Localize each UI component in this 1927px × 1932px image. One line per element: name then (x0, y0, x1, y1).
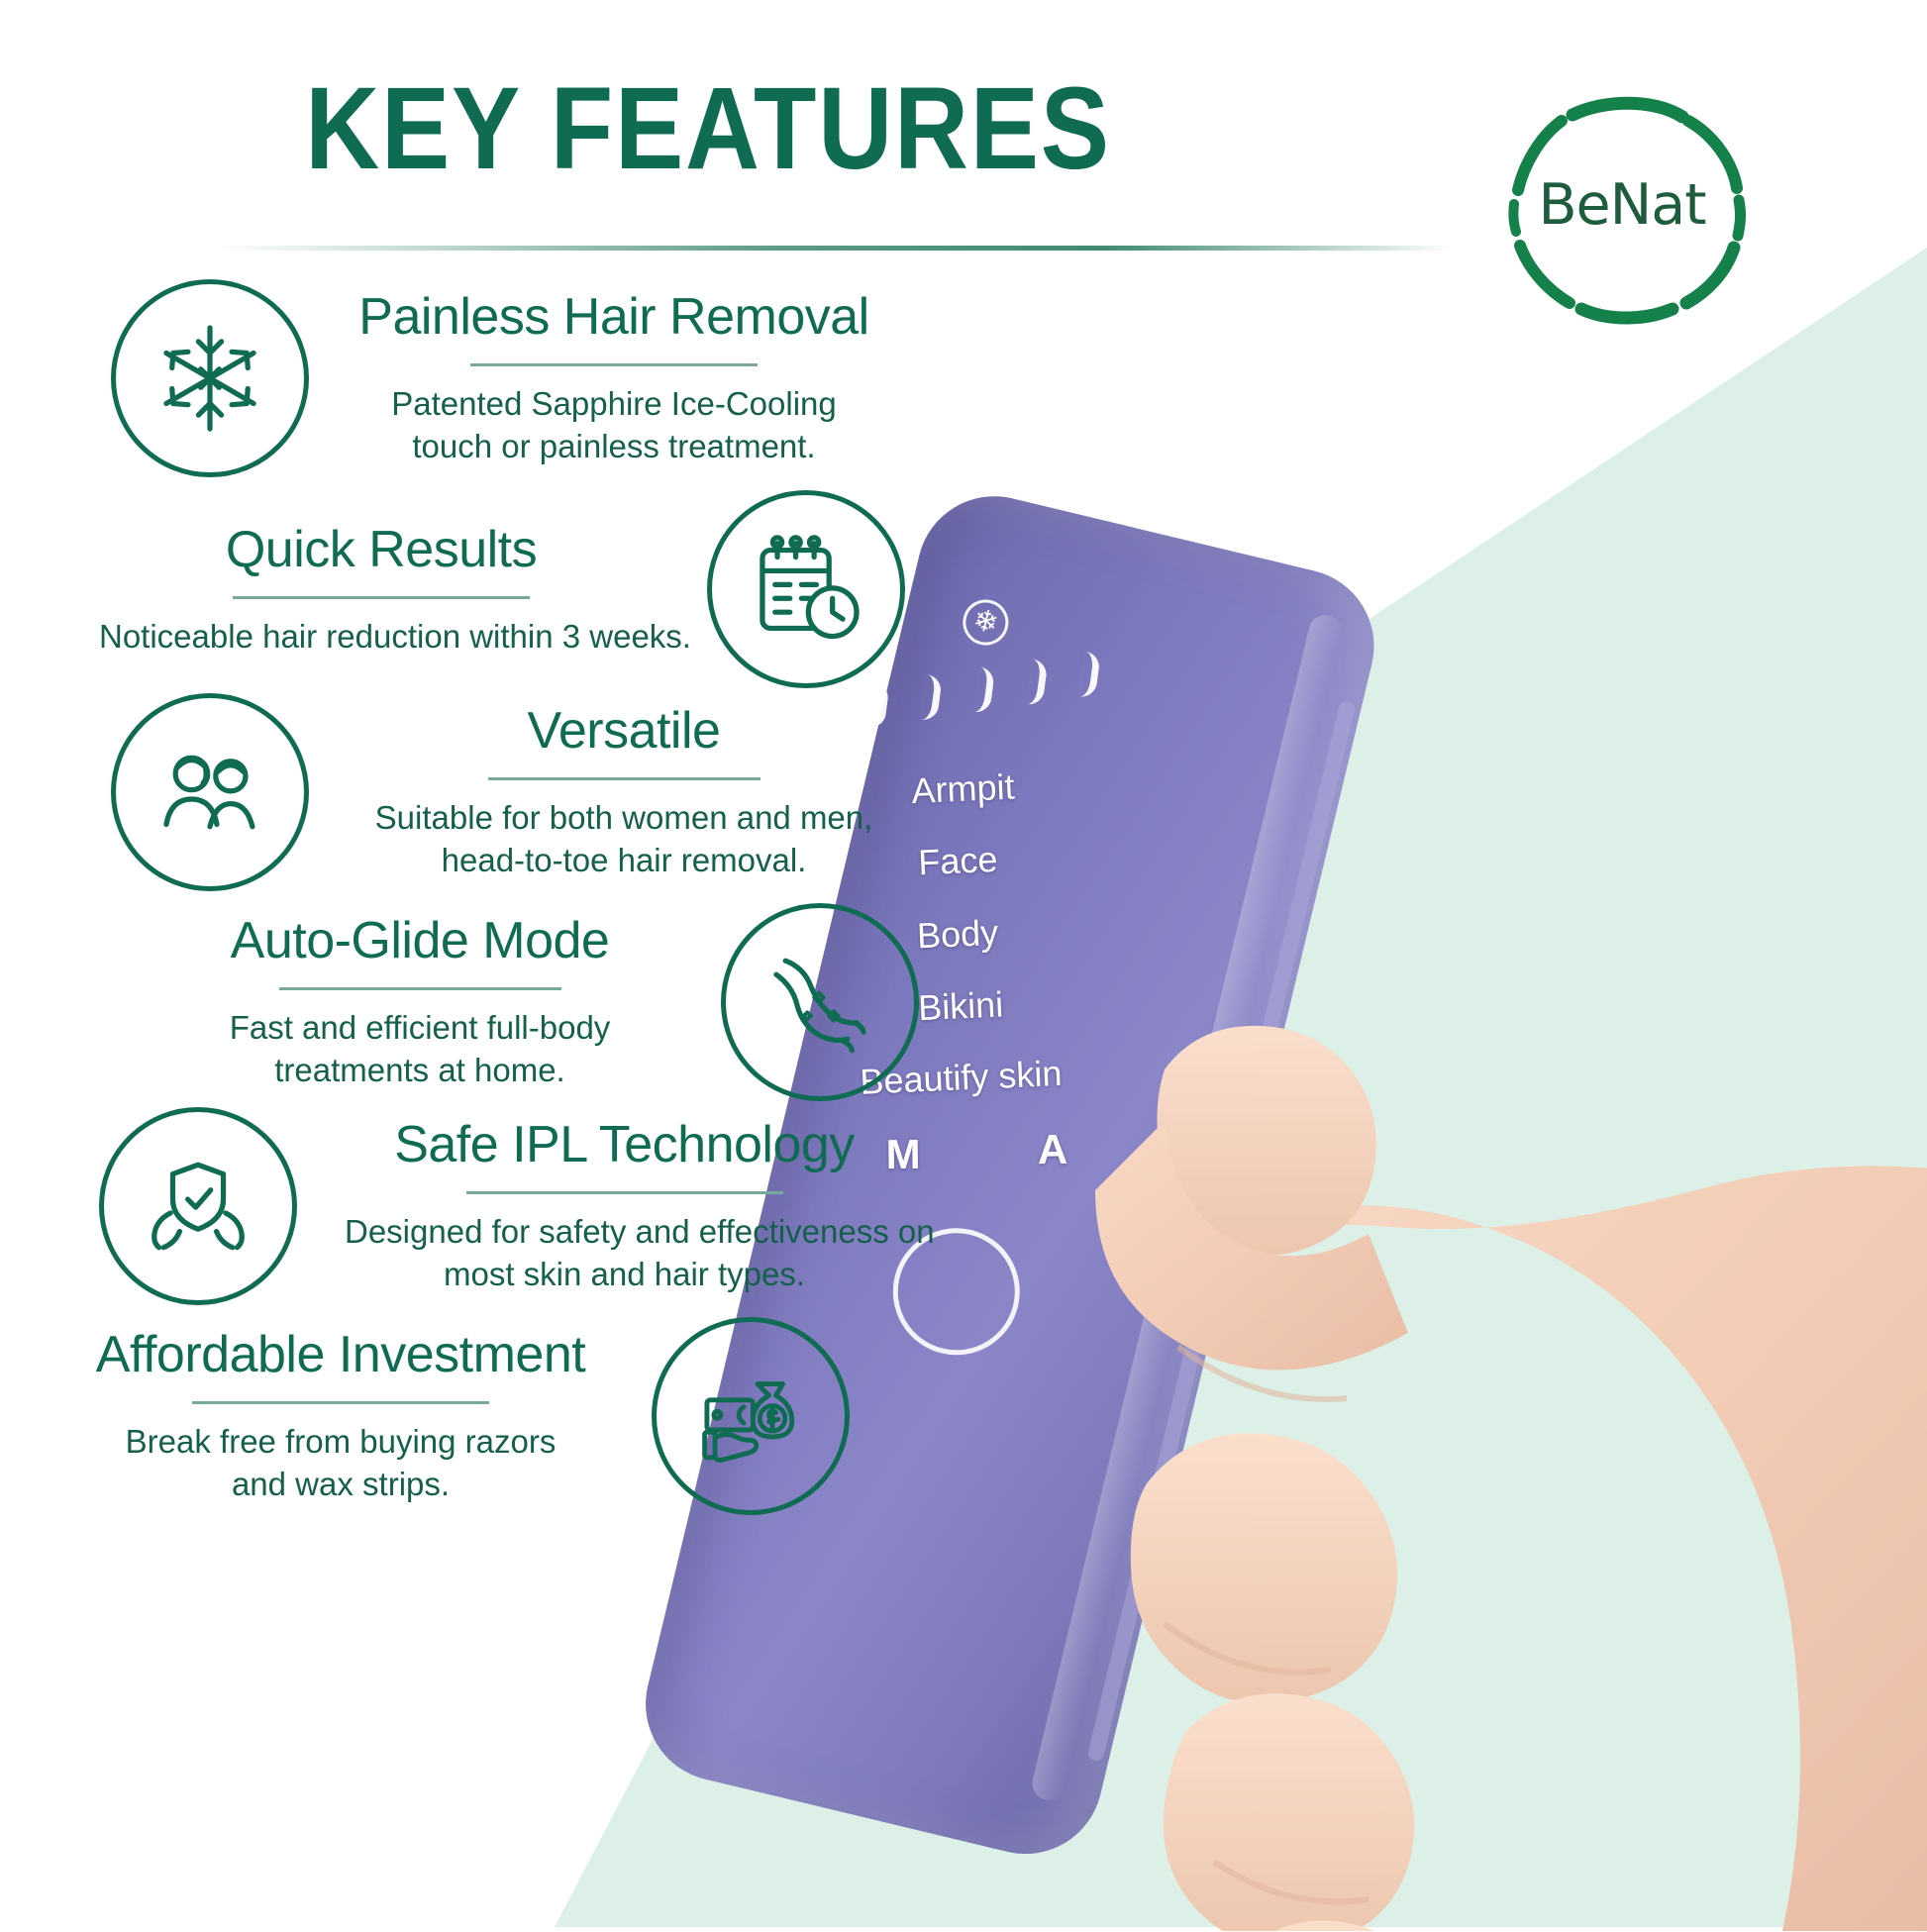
feature-title: Painless Hair Removal (356, 288, 871, 348)
feature-text-block: Painless Hair Removal Patented Sapphire … (356, 288, 871, 468)
feature-description-line2: treatments at home. (162, 1049, 677, 1092)
feature-description: Suitable for both women and men, head-to… (356, 796, 891, 882)
feature-description-line2: and wax strips. (73, 1463, 608, 1506)
two-people-icon (111, 693, 309, 891)
feature-description-line1: Break free from buying razors (73, 1420, 608, 1464)
feature-row-versatile: Versatile Suitable for both women and me… (111, 693, 891, 891)
brand-logo: BeNat (1478, 77, 1766, 335)
calendar-clock-icon (707, 490, 905, 688)
feature-description-line2: head-to-toe hair removal. (356, 839, 891, 882)
feature-title: Affordable Investment (73, 1326, 608, 1385)
product-image-ipl-device: ❄ Armpit Face Body Bikini Beautify skin … (931, 475, 1927, 1931)
feature-description: Fast and efficient full-body treatments … (162, 1006, 677, 1092)
title-divider (220, 246, 1453, 251)
feature-description-line1: Designed for safety and effectiveness on (345, 1210, 904, 1254)
page-title: KEY FEATURES (85, 61, 1331, 196)
feature-text-block: Affordable Investment Break free from bu… (73, 1326, 608, 1506)
logo-text: BeNat (1478, 172, 1766, 238)
feature-description: Designed for safety and effectiveness on… (345, 1210, 904, 1296)
feature-title: Quick Results (99, 521, 663, 580)
feature-description-line1: Noticeable hair reduction within 3 weeks… (99, 615, 663, 659)
feature-description-line1: Patented Sapphire Ice-Cooling (356, 382, 871, 426)
feature-description-line1: Suitable for both women and men, (356, 796, 891, 840)
hand-holding-device (931, 475, 1927, 1931)
feature-text-block: Versatile Suitable for both women and me… (356, 702, 891, 882)
feature-divider (470, 363, 758, 366)
feature-title: Versatile (356, 702, 891, 762)
feature-title: Safe IPL Technology (345, 1116, 904, 1175)
feature-description-line2: touch or painless treatment. (356, 425, 871, 468)
feature-row-auto-glide-mode: Auto-Glide Mode Fast and efficient full-… (162, 903, 919, 1101)
feature-description: Noticeable hair reduction within 3 weeks… (99, 615, 663, 659)
feature-row-painless-hair-removal: Painless Hair Removal Patented Sapphire … (111, 279, 871, 477)
feature-description-line2: most skin and hair types. (345, 1253, 904, 1296)
feature-description: Patented Sapphire Ice-Cooling touch or p… (356, 382, 871, 468)
feature-row-quick-results: Quick Results Noticeable hair reduction … (99, 490, 905, 688)
feature-row-affordable-investment: Affordable Investment Break free from bu… (73, 1317, 850, 1515)
feature-description-line1: Fast and efficient full-body (162, 1006, 677, 1050)
feature-text-block: Quick Results Noticeable hair reduction … (99, 521, 663, 658)
feature-divider (466, 1191, 783, 1194)
feature-divider (192, 1401, 489, 1404)
feature-divider (233, 596, 530, 599)
legs-icon (721, 903, 919, 1101)
feature-divider (279, 987, 561, 990)
money-bag-hand-icon (652, 1317, 850, 1515)
feature-title: Auto-Glide Mode (162, 912, 677, 971)
feature-description: Break free from buying razors and wax st… (73, 1420, 608, 1506)
feature-text-block: Auto-Glide Mode Fast and efficient full-… (162, 912, 677, 1092)
shield-in-hands-icon (99, 1107, 297, 1305)
feature-divider (488, 777, 761, 780)
snowflake-icon (111, 279, 309, 477)
feature-row-safe-ipl-technology: Safe IPL Technology Designed for safety … (99, 1107, 904, 1305)
feature-text-block: Safe IPL Technology Designed for safety … (345, 1116, 904, 1296)
